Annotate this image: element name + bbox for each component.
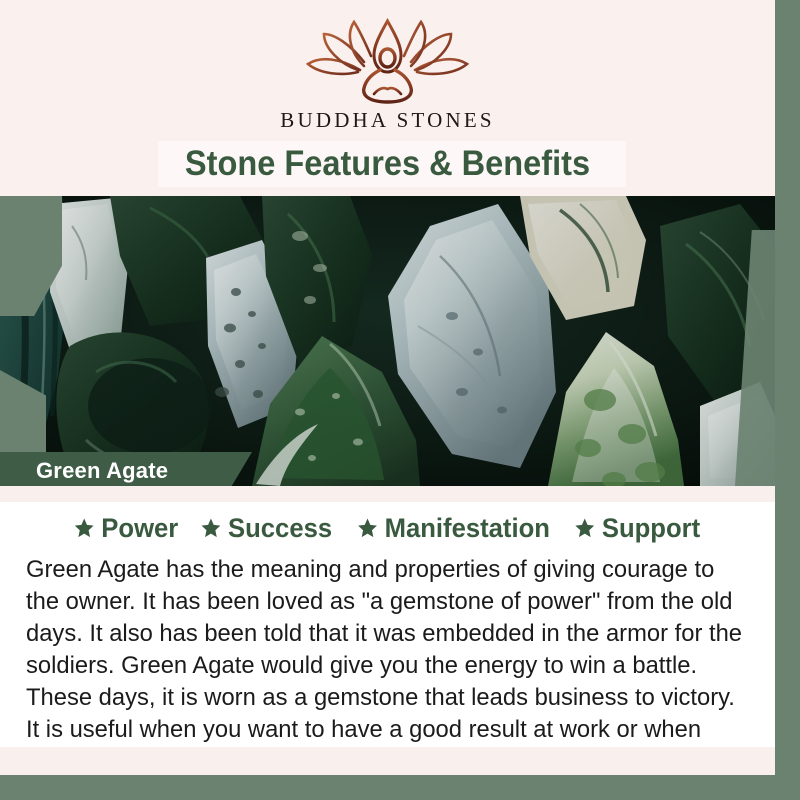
frame-border-right [772,0,800,800]
product-infographic: BUDDHA STONES Stone Features & Benefits [0,0,800,800]
stone-name-label: Green Agate [36,458,168,484]
benefit-label: Power [102,513,179,544]
bottom-cream-strip [0,747,775,775]
star-icon [74,517,95,539]
benefit-item: Power [74,513,179,544]
benefit-label: Manifestation [385,513,550,544]
lotus-meditation-figure-icon [300,18,475,106]
star-icon [357,517,378,539]
benefit-label: Success [228,513,332,544]
brand-logo: BUDDHA STONES [0,18,775,133]
benefit-item: Support [574,513,700,544]
benefit-item: Success [201,513,333,544]
star-icon [201,517,222,539]
brand-wordmark: BUDDHA STONES [280,108,495,133]
star-icon [574,517,595,539]
benefit-label: Support [602,513,700,544]
stone-name-banner: Green Agate [0,452,252,490]
stone-description: Green Agate has the meaning and properti… [26,554,744,778]
benefit-item: Manifestation [357,513,550,544]
page-title: Stone Features & Benefits [27,141,748,187]
green-agate-tumbled-stones-photo [0,196,775,486]
benefits-row: Power Success Manifestation Support [0,508,775,548]
header: BUDDHA STONES Stone Features & Benefits [0,0,775,196]
